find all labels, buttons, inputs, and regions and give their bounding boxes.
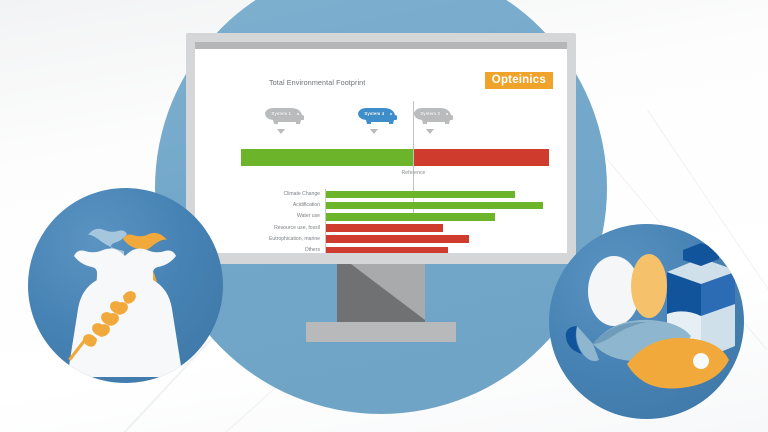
- feed-sacks-glyph: [28, 188, 223, 383]
- impact-category-bar: [326, 202, 543, 210]
- total-footprint-bar: [241, 149, 549, 166]
- animal-products-glyph: [549, 224, 744, 419]
- system-marker-label: System 1: [258, 111, 304, 116]
- marker-caret-icon: [426, 129, 434, 134]
- pig-icon: System 1: [258, 105, 304, 127]
- egg-orange: [631, 254, 667, 318]
- monitor: Total Environmental Footprint Opteinics …: [186, 33, 576, 342]
- impact-category-label: Others: [247, 248, 325, 253]
- system-marker-1[interactable]: System 1: [258, 105, 304, 134]
- animal-products-icon: [549, 224, 744, 419]
- impact-category-row[interactable]: Climate Change: [247, 189, 543, 200]
- monitor-screen: Total Environmental Footprint Opteinics …: [195, 42, 567, 253]
- impact-category-label: Climate Change: [247, 192, 325, 197]
- impact-category-bar: [326, 247, 448, 253]
- impact-category-track: [325, 245, 543, 253]
- page-title: Total Environmental Footprint: [269, 78, 365, 87]
- scene-root: Total Environmental Footprint Opteinics …: [0, 0, 768, 432]
- impact-category-bar: [326, 224, 443, 232]
- feed-sacks-icon: [28, 188, 223, 383]
- system-marker-label: System 3: [407, 111, 453, 116]
- impact-category-track: [325, 234, 543, 245]
- impact-category-track: [325, 223, 543, 234]
- fish-orange-eye: [693, 353, 709, 369]
- impact-category-label: Water use: [247, 214, 325, 219]
- monitor-bezel: Total Environmental Footprint Opteinics …: [186, 33, 576, 264]
- system-marker-label: System 4: [351, 111, 397, 116]
- impact-category-row[interactable]: Water use: [247, 211, 543, 222]
- pig-icon: System 4: [351, 105, 397, 127]
- marker-caret-icon: [370, 129, 378, 134]
- opteinics-logo-badge: Opteinics: [485, 72, 553, 89]
- impact-category-row[interactable]: Resource use, fossil: [247, 223, 543, 234]
- impact-category-row[interactable]: Acidification: [247, 200, 543, 211]
- system-marker-row: System 1System 4System 3: [195, 105, 567, 147]
- impact-category-label: Eutrophication, marine: [247, 237, 325, 242]
- total-bar-segment-below: [241, 149, 413, 166]
- impact-category-chart: Climate ChangeAcidificationWater useReso…: [247, 189, 543, 253]
- dashboard: Total Environmental Footprint Opteinics …: [195, 49, 567, 253]
- impact-category-bar: [326, 213, 495, 221]
- screen-top-strip: [195, 42, 567, 49]
- marker-caret-icon: [277, 129, 285, 134]
- sack-white: [69, 248, 181, 377]
- system-marker-2[interactable]: System 4: [351, 105, 397, 134]
- monitor-stand-highlight: [351, 264, 425, 320]
- total-bar-segment-above: [413, 149, 549, 166]
- monitor-stand-base: [306, 322, 456, 342]
- monitor-stand-wrap: [186, 264, 576, 342]
- impact-category-track: [325, 189, 543, 200]
- impact-category-label: Acidification: [247, 203, 325, 208]
- impact-category-bar: [326, 191, 515, 199]
- impact-category-label: Resource use, fossil: [247, 226, 325, 231]
- impact-category-track: [325, 211, 543, 222]
- reference-label: Reference: [402, 170, 426, 176]
- monitor-stand-neck: [337, 264, 425, 322]
- impact-category-row[interactable]: Eutrophication, marine: [247, 234, 543, 245]
- impact-category-row[interactable]: Others: [247, 245, 543, 253]
- impact-category-bar: [326, 235, 469, 243]
- impact-category-track: [325, 200, 543, 211]
